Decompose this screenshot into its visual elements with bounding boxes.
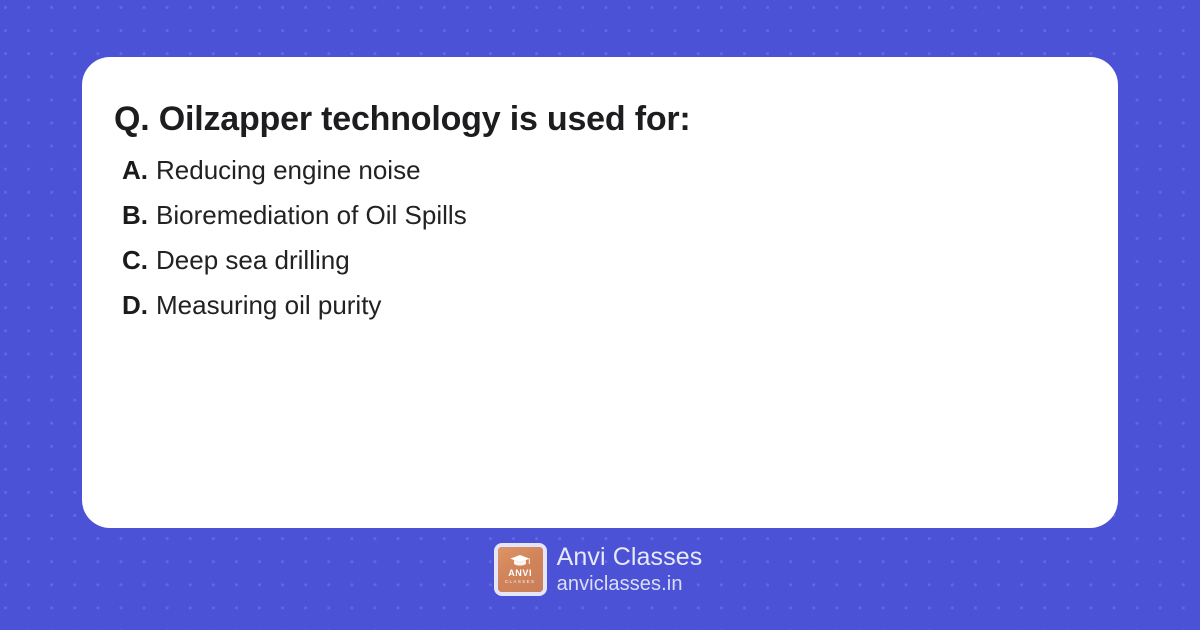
option-b[interactable]: B. Bioremediation of Oil Spills bbox=[114, 200, 1078, 245]
quiz-poster: Q. Oilzapper technology is used for: A. … bbox=[0, 0, 1200, 630]
logo-name: ANVI bbox=[508, 569, 532, 578]
option-b-text: Bioremediation of Oil Spills bbox=[156, 200, 467, 231]
option-d-text: Measuring oil purity bbox=[156, 290, 381, 321]
answer-options-list: A. Reducing engine noise B. Bioremediati… bbox=[114, 155, 1078, 335]
graduation-cap-icon bbox=[509, 554, 531, 567]
logo-subtitle: CLASSES bbox=[505, 579, 536, 585]
brand-url[interactable]: anviclasses.in bbox=[557, 572, 703, 596]
option-a[interactable]: A. Reducing engine noise bbox=[114, 155, 1078, 200]
option-b-letter: B. bbox=[122, 200, 156, 231]
anvi-classes-logo: ANVI CLASSES bbox=[498, 547, 543, 592]
question-card: Q. Oilzapper technology is used for: A. … bbox=[82, 57, 1118, 528]
brand-name: Anvi Classes bbox=[557, 543, 703, 572]
option-d-letter: D. bbox=[122, 290, 156, 321]
option-d[interactable]: D. Measuring oil purity bbox=[114, 290, 1078, 335]
option-a-letter: A. bbox=[122, 155, 156, 186]
option-c[interactable]: C. Deep sea drilling bbox=[114, 245, 1078, 290]
option-a-text: Reducing engine noise bbox=[156, 155, 421, 186]
brand-footer: ANVI CLASSES Anvi Classes anviclasses.in bbox=[0, 543, 1200, 596]
option-c-text: Deep sea drilling bbox=[156, 245, 350, 276]
brand-text-block: Anvi Classes anviclasses.in bbox=[557, 543, 703, 596]
question-title: Q. Oilzapper technology is used for: bbox=[114, 99, 1078, 139]
option-c-letter: C. bbox=[122, 245, 156, 276]
